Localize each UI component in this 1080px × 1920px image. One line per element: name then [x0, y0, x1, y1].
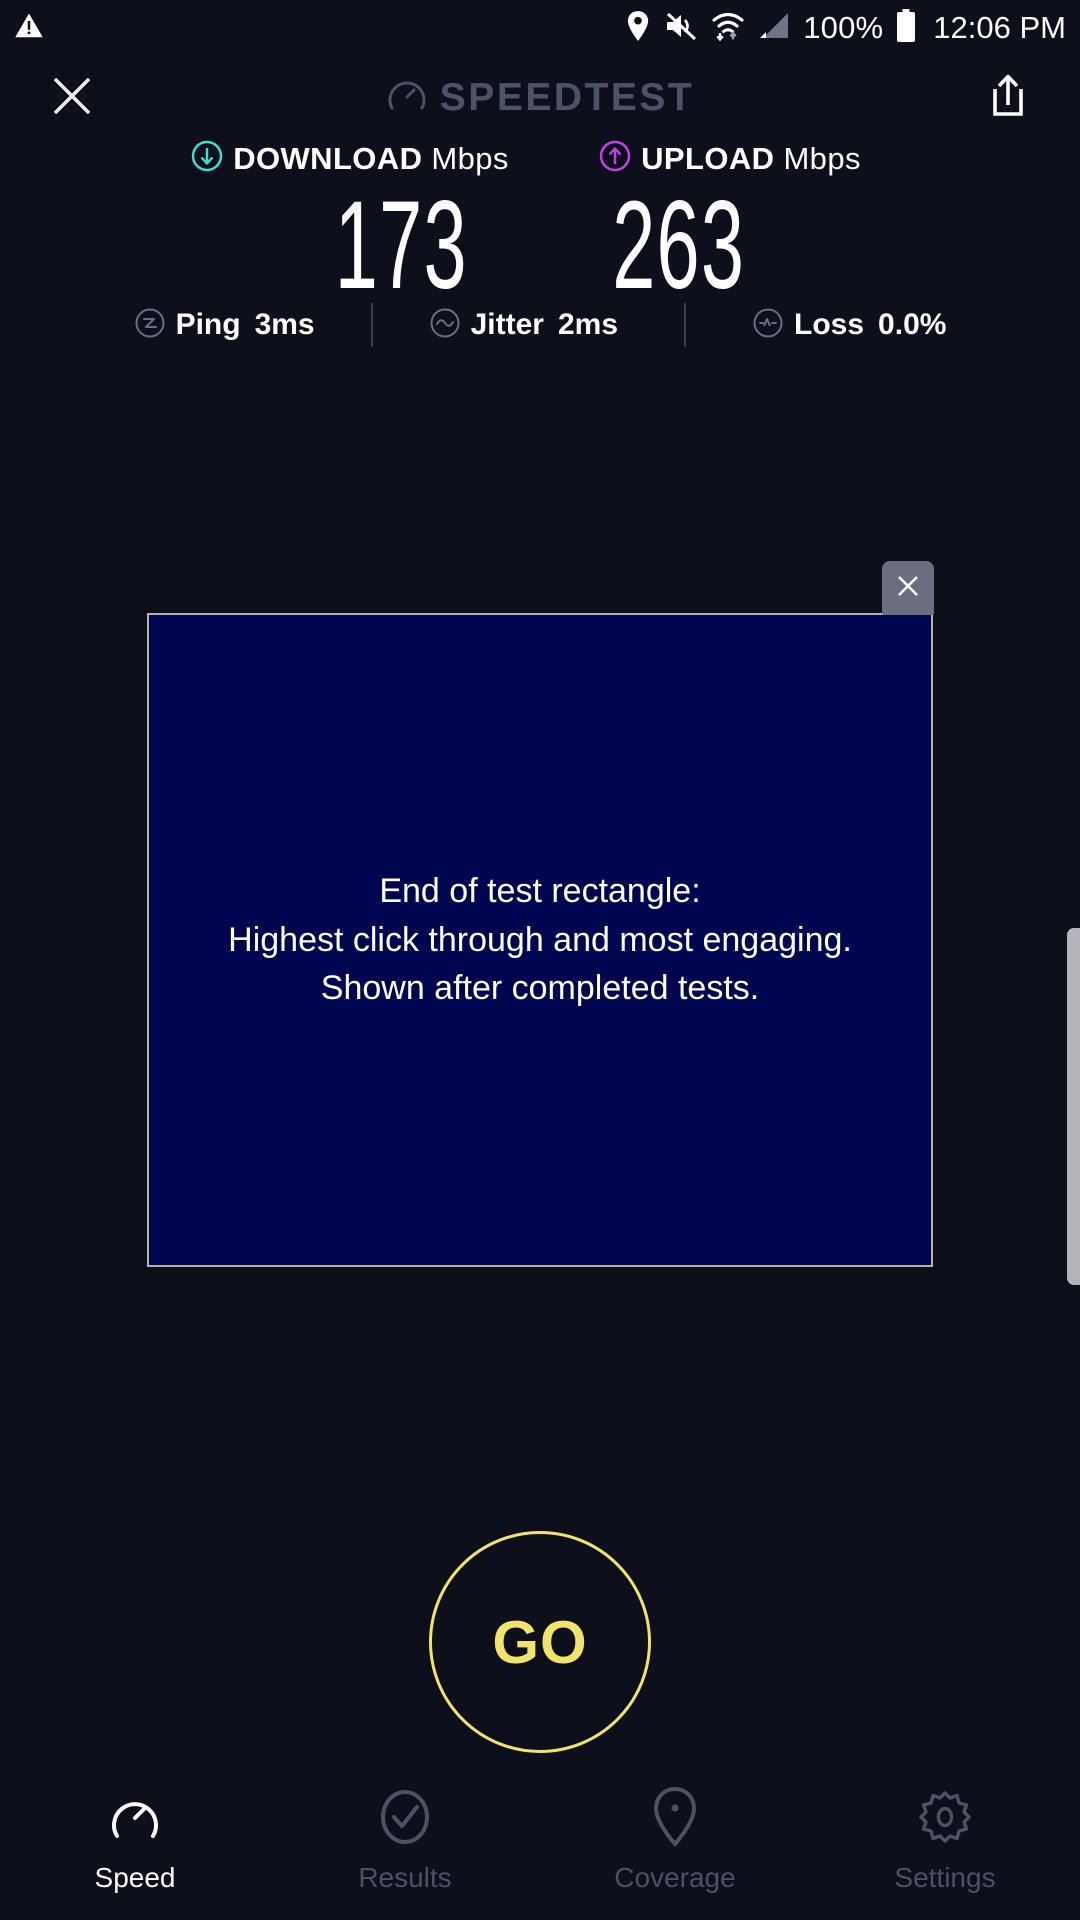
upload-label-row: UPLOAD Mbps — [540, 140, 920, 177]
loss-icon — [752, 307, 784, 344]
ad-close-x-icon — [894, 572, 922, 605]
jitter-icon — [429, 307, 461, 344]
location-pin-icon — [625, 10, 651, 47]
battery-percent-label: 100% — [803, 10, 883, 46]
status-bar-clock: 12:06 PM — [933, 10, 1066, 46]
bottom-navigation-bar: Speed Results Coverage — [0, 1760, 1080, 1920]
wifi-icon — [711, 10, 745, 47]
metric-ping-label: Ping — [176, 308, 241, 342]
speed-results: DOWNLOAD Mbps 173 UPLOAD Mbps — [0, 140, 1080, 308]
download-value: 173 — [232, 183, 468, 308]
status-bar-right: 100% 12:06 PM — [625, 9, 1066, 48]
metric-divider — [684, 303, 686, 347]
upload-value: 263 — [612, 183, 848, 308]
metric-loss-label: Loss — [794, 308, 864, 342]
nav-label-settings: Settings — [894, 1862, 995, 1894]
android-status-bar: 100% 12:06 PM — [0, 0, 1080, 56]
app-brand: SPEEDTEST — [0, 62, 1080, 134]
download-result: DOWNLOAD Mbps 173 — [160, 140, 540, 308]
check-circle-icon — [376, 1786, 434, 1848]
nav-item-results[interactable]: Results — [270, 1760, 540, 1920]
network-metrics-row: Ping 3ms Jitter 2ms — [0, 303, 1080, 347]
go-button[interactable]: GO — [429, 1531, 651, 1753]
nav-label-speed: Speed — [95, 1862, 176, 1894]
metric-jitter-value: 2ms — [558, 308, 618, 342]
go-button-label: GO — [492, 1608, 587, 1677]
upload-label: UPLOAD Mbps — [641, 141, 861, 177]
nav-item-speed[interactable]: Speed — [0, 1760, 270, 1920]
map-pin-icon — [646, 1786, 704, 1848]
cellular-signal-icon — [758, 11, 790, 46]
metric-jitter: Jitter 2ms — [429, 307, 618, 344]
nav-item-settings[interactable]: Settings — [810, 1760, 1080, 1920]
nav-item-coverage[interactable]: Coverage — [540, 1760, 810, 1920]
arrow-up-circle-icon — [599, 140, 631, 177]
speed-results-row: DOWNLOAD Mbps 173 UPLOAD Mbps — [0, 140, 1080, 308]
download-label: DOWNLOAD Mbps — [233, 141, 509, 177]
volume-muted-icon — [664, 11, 698, 46]
speedometer-icon — [386, 75, 428, 122]
ad-text: End of test rectangle: Highest click thr… — [228, 867, 852, 1013]
metric-jitter-label: Jitter — [471, 308, 544, 342]
advertisement-banner[interactable]: End of test rectangle: Highest click thr… — [147, 613, 933, 1267]
speedtest-app-screen: 100% 12:06 PM SPEEDTEST — [0, 0, 1080, 1920]
speedometer-icon — [106, 1786, 164, 1848]
app-title: SPEEDTEST — [440, 76, 694, 120]
metric-loss: Loss 0.0% — [752, 307, 946, 344]
download-label-row: DOWNLOAD Mbps — [160, 140, 540, 177]
nav-label-results: Results — [358, 1862, 451, 1894]
status-bar-left — [14, 11, 44, 46]
arrow-down-circle-icon — [191, 140, 223, 177]
ad-close-button[interactable] — [882, 561, 934, 615]
ping-icon — [134, 307, 166, 344]
warning-triangle-icon — [14, 11, 44, 46]
metric-divider — [371, 303, 373, 347]
gear-icon — [916, 1786, 974, 1848]
metric-ping: Ping 3ms — [134, 307, 315, 344]
nav-label-coverage: Coverage — [614, 1862, 735, 1894]
page-scrollbar[interactable] — [1067, 928, 1080, 1285]
upload-result: UPLOAD Mbps 263 — [540, 140, 920, 308]
share-upload-icon — [986, 72, 1030, 125]
battery-full-icon — [896, 9, 916, 48]
metric-loss-value: 0.0% — [878, 308, 946, 342]
metric-ping-value: 3ms — [255, 308, 315, 342]
share-results-button[interactable] — [972, 62, 1044, 134]
